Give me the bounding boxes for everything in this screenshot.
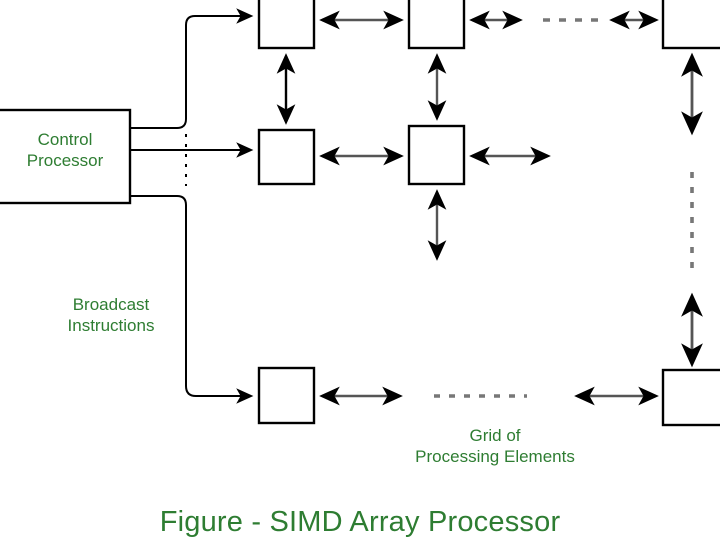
pe-box-rncn (663, 370, 720, 425)
broadcast-lines (130, 16, 251, 396)
broadcast-instructions-label: Broadcast Instructions (38, 295, 184, 336)
pe-box-r2c2 (409, 126, 464, 184)
figure-caption: Figure - SIMD Array Processor (0, 506, 720, 539)
pe-box-r1cn (663, 0, 720, 48)
control-processor-label: Control Processor (0, 130, 130, 171)
grid-of-processing-elements-label: Grid of Processing Elements (370, 426, 620, 467)
pe-box-r2c1 (259, 130, 314, 184)
broadcast-arrow-top (130, 16, 251, 128)
pe-box-r1c2 (409, 0, 464, 48)
vertical-links (286, 56, 692, 364)
simd-array-processor-figure: Control Processor Broadcast Instructions… (0, 0, 720, 554)
horizontal-links (322, 20, 656, 396)
diagram-canvas (0, 0, 720, 554)
pe-box-r1c1 (259, 0, 314, 48)
pe-box-rnc1 (259, 368, 314, 423)
pe-boxes (259, 0, 720, 425)
